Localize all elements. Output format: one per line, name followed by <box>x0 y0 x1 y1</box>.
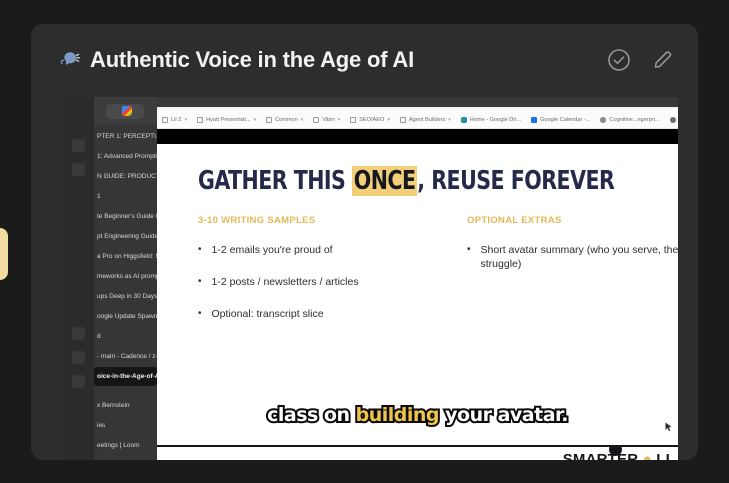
list-item-text: 1-2 posts / newsletters / articles <box>212 275 428 289</box>
bookmark-item[interactable]: Common▾ <box>261 117 308 123</box>
sidebar-item[interactable]: 1: Advanced Prompting <box>94 147 157 166</box>
sidebar-item[interactable]: a Pro on Higgsfield: Ne <box>94 247 157 266</box>
slide-content: GATHER THIS ONCE, REUSE FOREVER 3-10 WRI… <box>157 144 678 460</box>
sidebar-item[interactable]: 1 <box>94 187 157 206</box>
google-favicon-icon <box>122 106 132 116</box>
next-slide-word: SMARTER <box>563 451 639 460</box>
bullet-list: •Short avatar summary (who you serve, th… <box>467 243 678 271</box>
folder-icon <box>313 117 319 123</box>
list-item-text: 1-2 emails you're proud of <box>212 243 428 257</box>
rail-icon-5[interactable] <box>72 375 85 388</box>
chevron-down-icon: ▾ <box>254 117 257 123</box>
lesson-header: Authentic Voice in the Age of AI <box>31 24 698 95</box>
speaking-head-icon <box>57 48 81 72</box>
page-title: Authentic Voice in the Age of AI <box>90 47 414 73</box>
chevron-down-icon: ▾ <box>387 117 390 123</box>
slide-column-right: OPTIONAL EXTRAS •Short avatar summary (w… <box>467 215 678 289</box>
rail-icon-3[interactable] <box>72 327 85 340</box>
folder-icon <box>350 117 356 123</box>
bookmark-label: Lil Z <box>171 117 182 123</box>
bookmark-label: Agent Builders <box>409 117 445 123</box>
list-item-text: Short avatar summary (who you serve, the… <box>481 243 678 271</box>
lesson-header-left: Authentic Voice in the Age of AI <box>57 47 606 73</box>
rail-icon-1[interactable] <box>72 139 85 152</box>
bullet-dot-icon: • <box>198 243 202 257</box>
video-caption-overlay: class on building your avatar. <box>157 404 678 426</box>
sidebar-item[interactable]: oogle Update Spawned <box>94 307 157 326</box>
sidebar-item[interactable]: eetings | Loom <box>94 436 157 455</box>
bookmark-item[interactable]: Hyatt Presentati...▾ <box>192 117 261 123</box>
chevron-down-icon: ▾ <box>448 117 451 123</box>
sidebar-tab-list: PTER 1: PERCEPTUAL A 1: Advanced Prompti… <box>94 127 157 460</box>
next-slide-text: SMARTER ● LI <box>563 451 670 460</box>
bookmark-item[interactable]: Lil Z▾ <box>157 117 192 123</box>
screen: Authentic Voice in the Age of AI <box>0 0 729 483</box>
browser-screenshot: PTER 1: PERCEPTUAL A 1: Advanced Prompti… <box>64 97 678 460</box>
bookmark-label: Home - Google Dri... <box>470 117 521 123</box>
bookmark-label: SEO/AEO <box>359 117 384 123</box>
headline-part-2: , REUSE FOREVER <box>417 166 614 196</box>
bookmark-label: Cognitive...ngerpri... <box>609 117 659 123</box>
bookmarks-bar: Lil Z▾ Hyatt Presentati...▾ Common▾ Vibi… <box>157 111 678 129</box>
bullet-dot-icon: • <box>467 243 471 271</box>
chevron-down-icon: ▾ <box>185 117 188 123</box>
pencil-icon[interactable] <box>650 47 676 73</box>
list-item: •1-2 emails you're proud of <box>198 243 428 257</box>
sidebar-item[interactable]: PTER 1: PERCEPTUAL A <box>94 127 157 146</box>
page-icon <box>670 117 676 123</box>
rail-icon-4[interactable] <box>72 351 85 364</box>
list-item: •Optional: transcript slice <box>198 307 428 321</box>
sidebar-item[interactable]: ups Deep in 30 Days: H <box>94 287 157 306</box>
bookmark-label: Google Calendar -... <box>540 117 590 123</box>
rail-icon-2[interactable] <box>72 163 85 176</box>
folder-icon <box>266 117 272 123</box>
page-icon <box>600 117 606 123</box>
headline-highlight: ONCE <box>352 166 417 196</box>
bullet-list: •1-2 emails you're proud of •1-2 posts /… <box>198 243 428 322</box>
sidebar-toolbar <box>94 97 157 125</box>
bullet-dot-icon: • <box>198 275 202 289</box>
browser-tab-sidebar: PTER 1: PERCEPTUAL A 1: Advanced Prompti… <box>94 97 157 460</box>
sidebar-item[interactable]: N GUIDE: PRODUCTION <box>94 167 157 186</box>
column-heading: 3-10 WRITING SAMPLES <box>198 215 428 226</box>
sidebar-item[interactable]: d <box>94 327 157 346</box>
browser-tabstrip <box>157 97 678 107</box>
sidebar-item[interactable]: - main - Cadence / z-c <box>94 347 157 366</box>
sidebar-item[interactable]: m <box>94 456 157 460</box>
sidebar-item[interactable]: ies <box>94 416 157 435</box>
presentation-slide[interactable]: GATHER THIS ONCE, REUSE FOREVER 3-10 WRI… <box>157 144 678 460</box>
chevron-down-icon: ▾ <box>338 117 341 123</box>
sidebar-item[interactable]: x Bernstein <box>94 396 157 415</box>
bookmark-item[interactable]: Home - Google Dri... <box>456 117 526 123</box>
folder-icon <box>400 117 406 123</box>
column-heading: OPTIONAL EXTRAS <box>467 215 678 226</box>
bookmark-label: Vibin <box>322 117 334 123</box>
folder-icon <box>197 117 203 123</box>
chevron-down-icon: ▾ <box>301 117 304 123</box>
lesson-card: Authentic Voice in the Age of AI <box>31 24 698 460</box>
left-edge-tab[interactable] <box>0 228 8 280</box>
folder-icon <box>162 117 168 123</box>
bookmark-label: Common <box>275 117 298 123</box>
bookmark-item[interactable]: Cognitive...ngerpri... <box>595 117 664 123</box>
app-rail <box>64 97 94 460</box>
next-slide-amp-icon: ● <box>638 451 656 460</box>
list-item: •1-2 posts / newsletters / articles <box>198 275 428 289</box>
sidebar-item[interactable]: pt Engineering Guide: C <box>94 227 157 246</box>
check-circle-icon[interactable] <box>606 47 632 73</box>
bookmark-label: Hyatt Presentati... <box>206 117 250 123</box>
bookmark-item[interactable]: Google Calendar -... <box>526 117 595 123</box>
slide-column-left: 3-10 WRITING SAMPLES •1-2 emails you're … <box>198 215 428 340</box>
video-letterbox <box>157 129 678 144</box>
calendar-icon <box>531 117 537 123</box>
list-item: •Short avatar summary (who you serve, th… <box>467 243 678 271</box>
sidebar-item[interactable]: te Beginner's Guide to <box>94 207 157 226</box>
sidebar-item[interactable]: meworks as AI prompts <box>94 267 157 286</box>
caption-part-1: class on <box>267 404 356 426</box>
list-item-text: Optional: transcript slice <box>212 307 428 321</box>
caption-highlight: building <box>356 404 439 426</box>
drive-icon <box>461 117 467 123</box>
headline-part-1: GATHER THIS <box>198 166 352 196</box>
caption-part-2: your avatar. <box>439 404 568 426</box>
header-actions <box>606 47 676 73</box>
slide-headline: GATHER THIS ONCE, REUSE FOREVER <box>198 166 614 196</box>
next-slide-sliver: SMARTER ● LI <box>157 445 678 460</box>
browser-content: Lil Z▾ Hyatt Presentati...▾ Common▾ Vibi… <box>157 97 678 460</box>
sidebar-item-selected[interactable]: oice-in-the-Age-of-AI <box>94 367 157 386</box>
bullet-dot-icon: • <box>198 307 202 321</box>
next-slide-suffix: LI <box>656 451 670 460</box>
bookmark-item[interactable]: Vibin▾ <box>308 117 345 123</box>
bookmark-item[interactable]: SEO/AEO▾ <box>345 117 395 123</box>
bookmark-item[interactable]: Agent Builders▾ <box>395 117 456 123</box>
sidebar-gap <box>94 387 157 396</box>
bookmark-item[interactable]: Getting Started | S... <box>665 117 679 123</box>
